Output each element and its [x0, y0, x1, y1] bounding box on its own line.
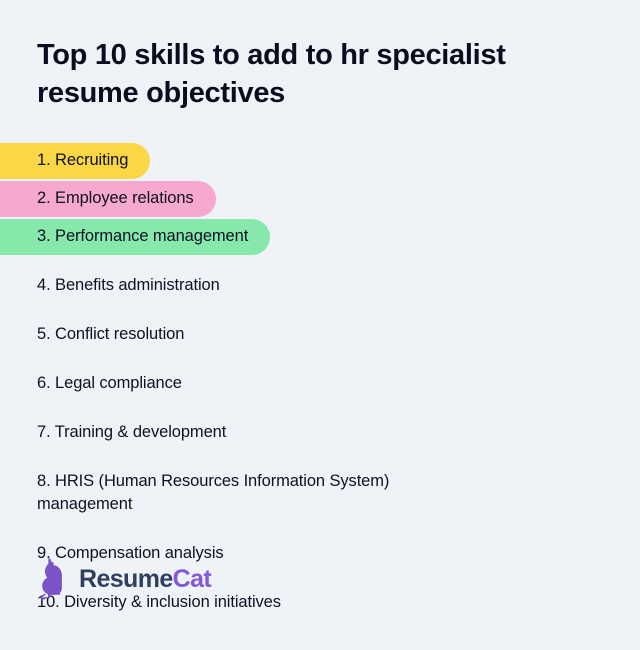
row-spacer	[0, 255, 640, 268]
logo-text-cat: Cat	[173, 565, 211, 593]
row-spacer	[0, 402, 640, 415]
skill-label: 6. Legal compliance	[0, 366, 520, 402]
list-item: 1. Recruiting	[0, 143, 640, 179]
list-item: 5. Conflict resolution	[0, 317, 640, 353]
skill-highlight-pill: 3. Performance management	[0, 219, 270, 255]
list-item: 4. Benefits administration	[0, 268, 640, 304]
row-spacer	[0, 304, 640, 317]
cat-icon	[37, 558, 71, 600]
logo-text-resume: Resume	[79, 565, 173, 593]
skills-list: 1. Recruiting 2. Employee relations 3. P…	[0, 143, 640, 621]
list-item: 7. Training & development	[0, 415, 640, 451]
list-item: 8. HRIS (Human Resources Information Sys…	[0, 464, 640, 523]
logo-wordmark: ResumeCat	[79, 567, 211, 592]
skill-highlight-pill: 1. Recruiting	[0, 143, 150, 179]
skill-label: 8. HRIS (Human Resources Information Sys…	[0, 464, 520, 523]
row-spacer	[0, 451, 640, 464]
page-title: Top 10 skills to add to hr specialist re…	[37, 36, 557, 113]
row-spacer	[0, 523, 640, 536]
skill-highlight-pill: 2. Employee relations	[0, 181, 216, 217]
resumecat-logo[interactable]: ResumeCat	[37, 558, 211, 600]
list-item: 3. Performance management	[0, 219, 640, 255]
skill-label: 4. Benefits administration	[0, 268, 520, 304]
skill-label: 5. Conflict resolution	[0, 317, 520, 353]
skill-label: 7. Training & development	[0, 415, 520, 451]
row-spacer	[0, 353, 640, 366]
infographic-page: Top 10 skills to add to hr specialist re…	[0, 0, 640, 650]
list-item: 2. Employee relations	[0, 181, 640, 217]
list-item: 6. Legal compliance	[0, 366, 640, 402]
